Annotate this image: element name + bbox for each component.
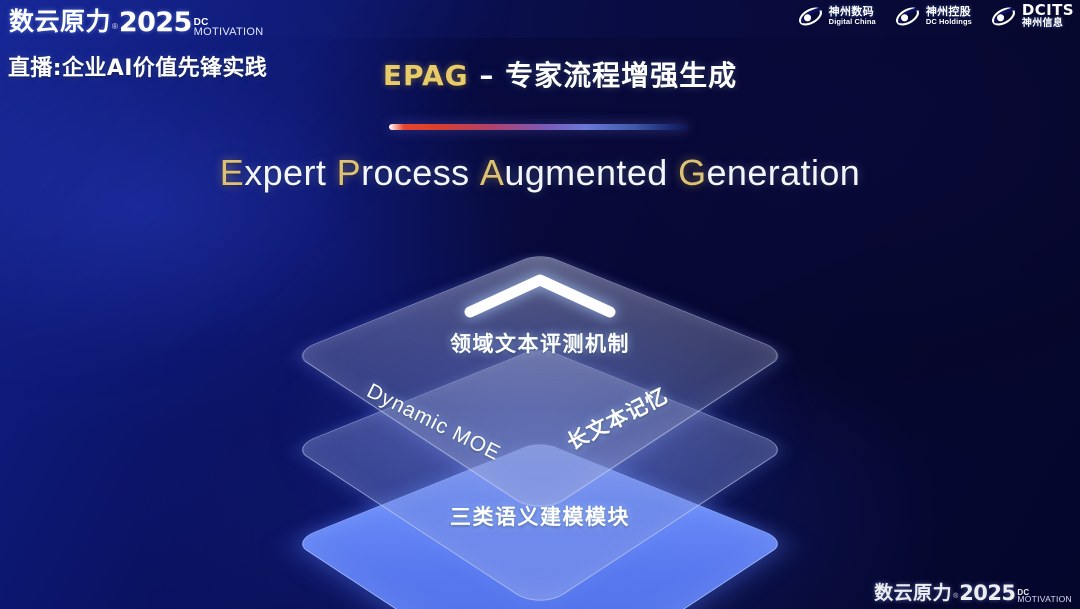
watermark-name-cn: 数云原力 (874, 578, 952, 605)
partner-logo-digital-china: 神州数码 Digital China (797, 4, 876, 29)
event-logo-watermark: 数云原力 ® 2025 DC MOTIVATION (874, 578, 1072, 605)
swoosh-icon (797, 4, 824, 29)
subtitle-rest-generation: eneration (706, 152, 860, 193)
title-chinese: 专家流程增强生成 (505, 59, 737, 92)
swoosh-icon (990, 4, 1017, 29)
watermark-year: 2025 (959, 581, 1015, 605)
subtitle-space (326, 152, 336, 193)
watermark-motivation: MOTIVATION (1017, 596, 1072, 604)
diagram-layer-top[interactable] (290, 228, 790, 478)
slide-stage: 数云原力 ® 2025 DC MOTIVATION 直播:企业AI价值先锋实践 … (0, 0, 1080, 609)
partner-name-en: Digital China (829, 18, 876, 26)
layer-stack-diagram: 领域文本评测机制 Dynamic MOE 长文本记忆 三类语义建模模块 (290, 228, 790, 558)
partner-name-cn: 神州信息 (1022, 19, 1074, 30)
slide-title: EPAG – 专家流程增强生成 (0, 54, 1080, 94)
plate-wrap (368, 181, 712, 525)
event-logo-dc-motivation: DC MOTIVATION (194, 18, 264, 38)
partner-text: 神州控股 DC Holdings (926, 6, 972, 25)
registered-mark-icon: ® (112, 22, 118, 31)
partner-logo-dc-holdings: 神州控股 DC Holdings (894, 4, 972, 29)
partner-text: DCITS 神州信息 (1022, 3, 1074, 29)
partner-logo-group: 神州数码 Digital China 神州控股 DC Holdings (797, 3, 1074, 29)
subtitle-rest-expert: xpert (244, 152, 326, 193)
event-logo-year: 2025 (119, 7, 192, 38)
swoosh-icon (894, 4, 921, 29)
registered-mark-icon: ® (953, 593, 958, 600)
title-separator: – (469, 59, 506, 92)
partner-brand: DCITS (1022, 3, 1074, 19)
subtitle-cap-e: E (220, 152, 244, 193)
event-logo-motivation: MOTIVATION (194, 27, 264, 37)
title-acronym: EPAG (383, 59, 469, 92)
plate-surface-top (292, 253, 788, 516)
watermark-dc-motivation: DC MOTIVATION (1017, 589, 1072, 605)
event-logo-name-cn: 数云原力 (9, 2, 111, 38)
title-divider-rule (389, 124, 688, 130)
partner-name-en: DC Holdings (926, 18, 972, 26)
partner-logo-dcits: DCITS 神州信息 (990, 3, 1074, 29)
subtitle-cap-p: P (337, 152, 361, 193)
partner-text: 神州数码 Digital China (829, 6, 876, 25)
event-logo: 数云原力 ® 2025 DC MOTIVATION (9, 2, 263, 38)
